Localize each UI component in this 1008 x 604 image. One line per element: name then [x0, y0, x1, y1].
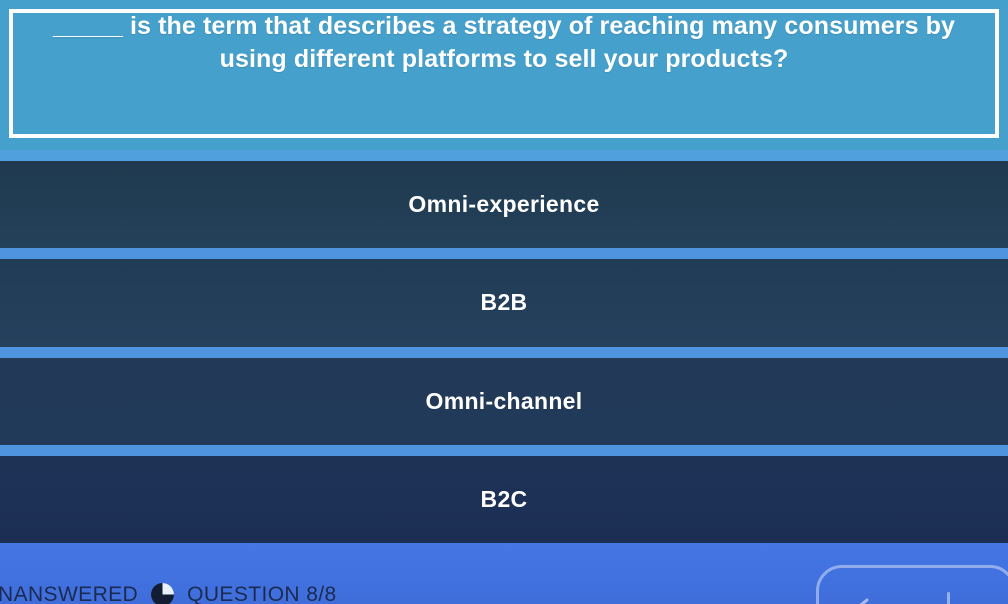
- answer-option-4[interactable]: B2C: [0, 456, 1008, 543]
- question-text: _____ is the term that describes a strat…: [24, 10, 984, 76]
- question-counter: QUESTION 8/8: [187, 583, 337, 604]
- pie-chart-icon: [150, 582, 175, 604]
- back-arrow-icon: [853, 594, 889, 604]
- answer-option-2[interactable]: B2B: [0, 259, 1008, 346]
- question-header: _____ is the term that describes a strat…: [0, 0, 1008, 150]
- answer-separator: [0, 150, 1008, 161]
- nav-back-button[interactable]: [816, 565, 1008, 604]
- answer-option-1-label: Omni-experience: [378, 191, 629, 218]
- answer-separator: [0, 248, 1008, 259]
- status-group: NANSWERED QUESTION 8/8: [0, 582, 337, 604]
- answer-option-4-label: B2C: [451, 486, 558, 513]
- answer-option-3[interactable]: Omni-channel: [0, 358, 1008, 445]
- answer-separator: [0, 347, 1008, 358]
- answer-separator: [0, 445, 1008, 456]
- quiz-screen: _____ is the term that describes a strat…: [0, 0, 1008, 604]
- unanswered-label: NANSWERED: [0, 583, 138, 604]
- status-bar: NANSWERED QUESTION 8/8: [0, 543, 1008, 604]
- answer-option-1[interactable]: Omni-experience: [0, 161, 1008, 248]
- nav-divider: [947, 592, 950, 604]
- answer-list: Omni-experience B2B Omni-channel B2C: [0, 150, 1008, 543]
- answer-option-3-label: Omni-channel: [396, 388, 613, 415]
- answer-option-2-label: B2B: [451, 289, 558, 316]
